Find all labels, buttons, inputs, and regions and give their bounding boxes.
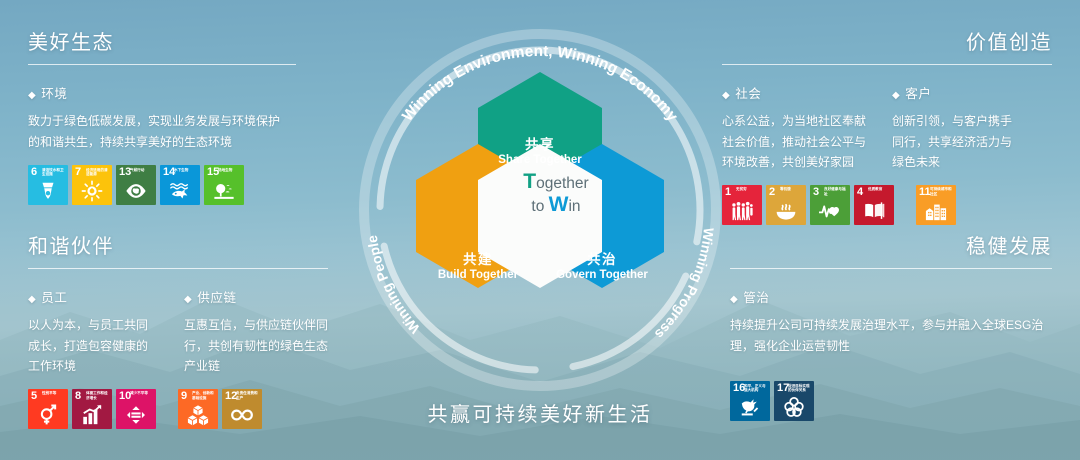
central-diagram: Winning Environment, Winning Economy Win… <box>348 18 732 402</box>
sdg-group-customers: 11 可持续城市和社区 <box>916 185 956 225</box>
panel-bottom-right-divider <box>730 268 1052 269</box>
panel-top-left-divider <box>28 64 296 65</box>
sdg-tile-14[interactable]: 14 水下生物 <box>160 165 200 205</box>
subsection-text-environment: 致力于绿色低碳发展，实现业务发展与环境保护的和谐共生，持续共享美好的生态环境 <box>28 111 286 152</box>
diamond-bullet-icon: ◆ <box>722 90 730 101</box>
core-slogan: Together to Win <box>500 171 612 217</box>
column-environment: ◆环境 致力于绿色低碳发展，实现业务发展与环境保护的和谐共生，持续共享美好的生态… <box>28 83 296 205</box>
panel-bottom-left-title: 和谐伙伴 <box>28 230 328 259</box>
panel-top-right-title: 价值创造 <box>722 26 1052 55</box>
sdg-tile-15[interactable]: 15 陆地生物 <box>204 165 244 205</box>
sun-power-icon <box>72 179 112 203</box>
diamond-bullet-icon: ◆ <box>730 294 738 305</box>
column-employees: ◆员工 以人为本，与员工共同成长，打造包容健康的工作环境 <box>28 287 158 377</box>
city-buildings-icon <box>916 199 956 223</box>
panel-top-right-divider <box>722 64 1052 65</box>
panel-bottom-right: 稳健发展 ◆管治 持续提升公司可持续发展治理水平，参与并融入全球ESG治理，强化… <box>730 230 1052 421</box>
sdg-row-environment: 6 清洁饮水和卫生设施 7 经济适用的清洁能源 13 气候行动 <box>28 165 296 205</box>
column-supply-chain: ◆供应链 互惠互信，与供应链伙伴同行，共创有韧性的绿色生态产业链 <box>184 287 328 377</box>
subsection-heading-society: ◆社会 <box>722 83 870 102</box>
subsection-heading-environment: ◆环境 <box>28 83 296 102</box>
subsection-heading-supply-chain: ◆供应链 <box>184 287 328 306</box>
sdg-tile-3[interactable]: 3 良好健康与福祉 <box>810 185 850 225</box>
subsection-heading-governance: ◆管治 <box>730 287 1052 306</box>
panel-top-right-columns: ◆社会 心系公益，为当地社区奉献社会价值，推动社会公平与环境改善，共创美好家园 … <box>722 83 1052 173</box>
tree-birds-icon <box>204 179 244 203</box>
core-slogan-line2: to Win <box>500 194 612 217</box>
panel-bottom-left-divider <box>28 268 328 269</box>
people-group-icon <box>722 199 762 223</box>
panel-top-left-title: 美好生态 <box>28 26 296 55</box>
subsection-text-society: 心系公益，为当地社区奉献社会价值，推动社会公平与环境改善，共创美好家园 <box>722 111 870 173</box>
core-slogan-line1: Together <box>500 171 612 194</box>
sdg-row-top-right: 1 无贫穷 2 零饥饿 3 良好健康与福祉 4 <box>722 185 1052 225</box>
panel-top-left-columns: ◆环境 致力于绿色低碳发展，实现业务发展与环境保护的和谐共生，持续共享美好的生态… <box>28 83 296 205</box>
column-customers: ◆客户 创新引领，与客户携手同行，共享经济活力与绿色未来 <box>892 83 1014 173</box>
sdg-tile-2[interactable]: 2 零饥饿 <box>766 185 806 225</box>
subsection-text-employees: 以人为本，与员工共同成长，打造包容健康的工作环境 <box>28 315 158 377</box>
diamond-bullet-icon: ◆ <box>28 90 36 101</box>
open-book-icon <box>854 199 894 223</box>
panel-top-left: 美好生态 ◆环境 致力于绿色低碳发展，实现业务发展与环境保护的和谐共生，持续共享… <box>28 26 296 205</box>
sdg-tile-4[interactable]: 4 优质教育 <box>854 185 894 225</box>
subsection-text-supply-chain: 互惠互信，与供应链伙伴同行，共创有韧性的绿色生态产业链 <box>184 315 328 377</box>
climate-eye-icon <box>116 179 156 203</box>
sdg-tile-11[interactable]: 11 可持续城市和社区 <box>916 185 956 225</box>
subsection-text-governance: 持续提升公司可持续发展治理水平，参与并融入全球ESG治理，强化企业运营韧性 <box>730 315 1052 356</box>
fish-waves-icon <box>160 179 200 203</box>
bottom-caption: 共赢可持续美好新生活 <box>0 398 1080 427</box>
sdg-tile-6[interactable]: 6 清洁饮水和卫生设施 <box>28 165 68 205</box>
water-drop-glass-icon <box>28 179 68 203</box>
diamond-bullet-icon: ◆ <box>28 294 36 305</box>
steaming-bowl-icon <box>766 199 806 223</box>
column-society: ◆社会 心系公益，为当地社区奉献社会价值，推动社会公平与环境改善，共创美好家园 <box>722 83 870 173</box>
sdg-tile-1[interactable]: 1 无贫穷 <box>722 185 762 225</box>
sdg-group-society: 1 无贫穷 2 零饥饿 3 良好健康与福祉 4 <box>722 185 894 225</box>
subsection-heading-customers: ◆客户 <box>892 83 1014 102</box>
panel-bottom-left-columns: ◆员工 以人为本，与员工共同成长，打造包容健康的工作环境 ◆供应链 互惠互信，与… <box>28 287 328 377</box>
diamond-bullet-icon: ◆ <box>892 90 900 101</box>
arc-label-left: Winning People <box>364 234 423 337</box>
heartbeat-icon <box>810 199 850 223</box>
panel-bottom-right-title: 稳健发展 <box>730 230 1052 259</box>
subsection-heading-employees: ◆员工 <box>28 287 158 306</box>
panel-top-right: 价值创造 ◆社会 心系公益，为当地社区奉献社会价值，推动社会公平与环境改善，共创… <box>722 26 1052 225</box>
sdg-tile-7[interactable]: 7 经济适用的清洁能源 <box>72 165 112 205</box>
subsection-text-customers: 创新引领，与客户携手同行，共享经济活力与绿色未来 <box>892 111 1014 173</box>
diamond-bullet-icon: ◆ <box>184 294 192 305</box>
sdg-tile-13[interactable]: 13 气候行动 <box>116 165 156 205</box>
